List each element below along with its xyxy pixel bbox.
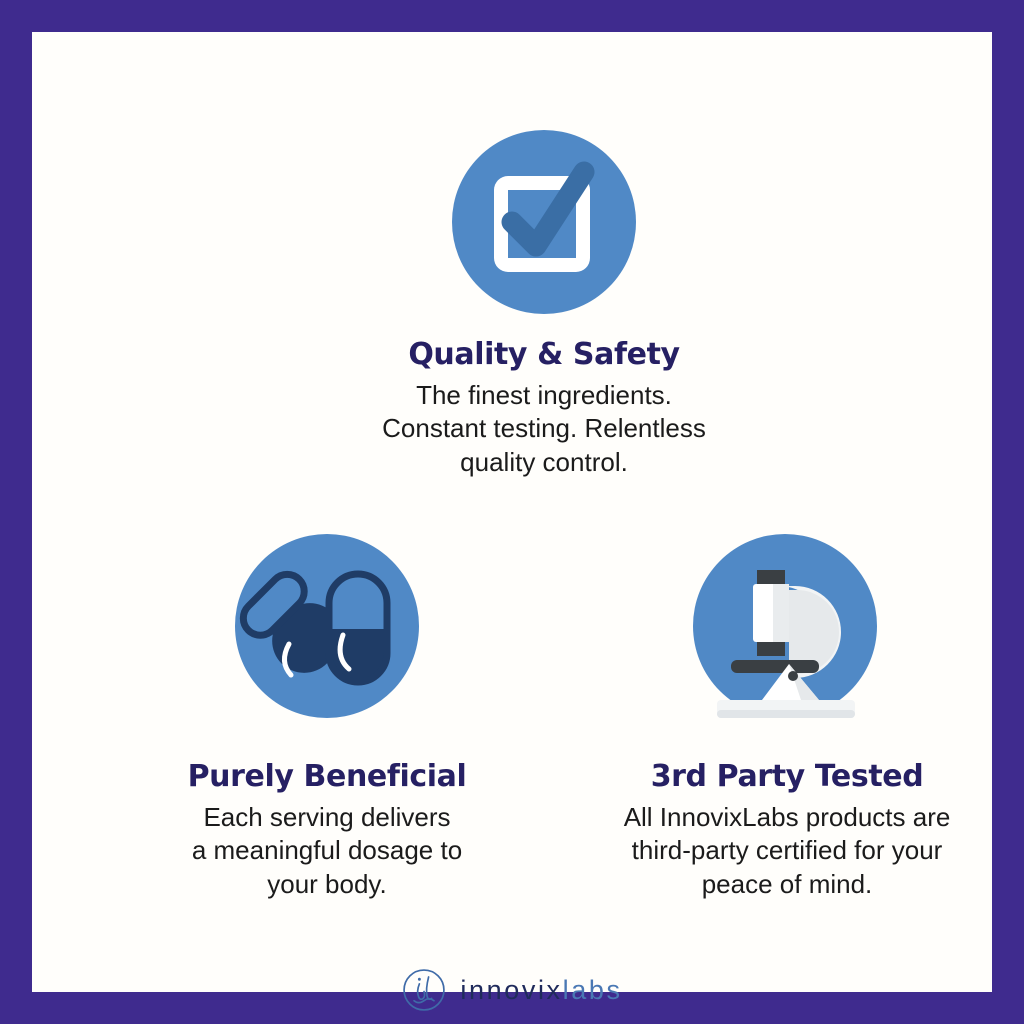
third-party-tested-title: 3rd Party Tested (577, 760, 997, 795)
quality-safety-card: Quality & Safety The finest ingredients.… (294, 338, 794, 480)
purely-beneficial-title: Purely Beneficial (127, 760, 527, 795)
purely-beneficial-card: Purely Beneficial Each serving delivers … (127, 760, 527, 902)
brand-logo: innovixlabs (32, 962, 992, 1018)
innovix-il-monogram-icon (401, 967, 447, 1013)
third-party-tested-icon-badge (693, 534, 877, 718)
quality-safety-icon-badge (452, 130, 636, 314)
content-panel: Quality & Safety The finest ingredients.… (32, 32, 992, 992)
brand-wordmark: innovixlabs (460, 977, 622, 1004)
third-party-tested-body: All InnovixLabs products are third-party… (577, 801, 997, 902)
brand-word-labs: labs (563, 975, 623, 1005)
quality-safety-body: The finest ingredients. Constant testing… (294, 379, 794, 480)
microscope-icon (693, 534, 877, 718)
purely-beneficial-body: Each serving delivers a meaningful dosag… (127, 801, 527, 902)
brand-word-innovix: innovix (460, 975, 562, 1005)
purely-beneficial-icon-badge (235, 534, 419, 718)
quality-safety-title: Quality & Safety (294, 338, 794, 373)
checkmark-checkbox-icon (452, 130, 636, 314)
capsule-pills-icon (235, 534, 419, 718)
third-party-tested-card: 3rd Party Tested All InnovixLabs product… (577, 760, 997, 902)
